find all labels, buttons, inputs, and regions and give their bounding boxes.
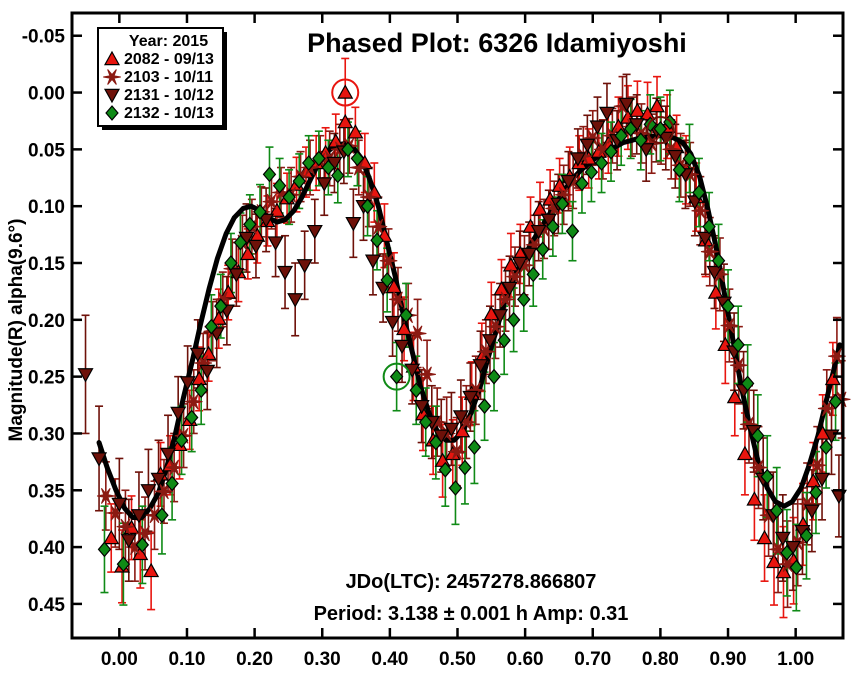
chart-canvas: 0.000.100.200.300.400.500.600.700.800.90… <box>0 0 856 677</box>
legend-item-label: 2082 - 09/13 <box>124 51 214 68</box>
x-tick-label: 0.50 <box>439 649 476 670</box>
y-axis-label: Magnitude(R) alpha(9.6°) <box>6 219 27 442</box>
x-tick-label: 0.90 <box>710 649 747 670</box>
y-tick-label: 0.15 <box>28 254 65 275</box>
jdo-annotation: JDo(LTC): 2457278.866807 <box>346 571 597 593</box>
y-tick-label: 0.40 <box>28 538 65 559</box>
x-tick-label: 0.70 <box>574 649 611 670</box>
x-tick-label: 0.10 <box>168 649 205 670</box>
x-tick-label: 0.20 <box>236 649 273 670</box>
y-tick-label: 0.10 <box>28 197 65 218</box>
x-tick-label: 0.00 <box>101 649 138 670</box>
y-tick-label: -0.05 <box>22 27 66 48</box>
x-tick-label: 0.30 <box>304 649 341 670</box>
phased-plot-figure: 0.000.100.200.300.400.500.600.700.800.90… <box>0 0 856 677</box>
y-tick-label: 0.45 <box>28 595 65 616</box>
x-tick-label: 1.00 <box>777 649 814 670</box>
legend-title: Year: 2015 <box>129 33 208 50</box>
x-tick-label: 0.60 <box>507 649 544 670</box>
y-tick-label: 0.25 <box>28 368 65 389</box>
y-tick-label: 0.35 <box>28 481 65 502</box>
chart-title: Phased Plot: 6326 Idamiyoshi <box>307 28 687 58</box>
x-tick-label: 0.80 <box>642 649 679 670</box>
legend-item-label: 2103 - 10/11 <box>124 69 213 86</box>
y-tick-label: 0.05 <box>28 140 65 161</box>
legend-item-label: 2131 - 10/12 <box>124 87 214 104</box>
legend-box[interactable]: Year: 20152082 - 09/132103 - 10/112131 -… <box>98 28 227 130</box>
period-amp-annotation: Period: 3.138 ± 0.001 h Amp: 0.31 <box>314 603 629 625</box>
y-tick-label: 0.20 <box>28 311 65 332</box>
legend-item-label: 2132 - 10/13 <box>124 105 214 122</box>
y-tick-label: 0.30 <box>28 424 65 445</box>
x-tick-label: 0.40 <box>371 649 408 670</box>
y-tick-label: 0.00 <box>28 84 65 105</box>
